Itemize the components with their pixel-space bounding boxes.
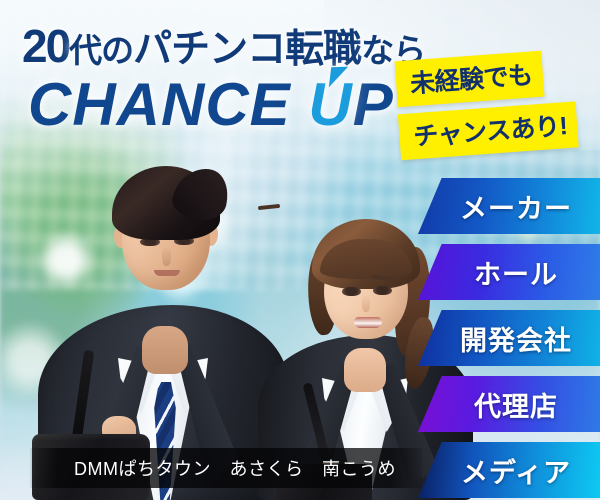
credit-text: DMMぱちタウン あさくら 南こうめ	[30, 455, 396, 481]
category-button-stack: メーカー ホール 開発会社 代理店 メディア	[418, 178, 600, 500]
category-button-hall[interactable]: ホール	[418, 244, 600, 300]
promo-badge: 未経験でも チャンスあり!	[396, 56, 596, 150]
category-button-agency[interactable]: 代理店	[418, 376, 600, 432]
advertisement-banner[interactable]: 20代のパチンコ転職なら CHANCE UP 未経験でも チャンスあり! メーカ…	[0, 0, 600, 500]
man-nose	[162, 246, 171, 266]
category-label-media: メディア	[447, 451, 571, 490]
category-label-agency: 代理店	[460, 385, 558, 424]
category-label-maker: メーカー	[446, 187, 572, 226]
category-button-media[interactable]: メディア	[418, 442, 600, 498]
headline-main: パチンコ転職	[133, 28, 361, 71]
woman-neck	[344, 348, 386, 392]
category-label-hall: ホール	[460, 253, 558, 292]
woman-eyebrow-left	[258, 204, 280, 210]
woman-eye-left	[342, 287, 361, 296]
woman-nose	[362, 295, 370, 312]
up-arrow-icon	[329, 67, 348, 88]
logo-up-group: U	[308, 70, 352, 139]
headline-number: 20	[22, 20, 69, 72]
chance-up-logo: CHANCE UP	[28, 70, 394, 139]
category-label-developer: 開発会社	[446, 319, 572, 358]
credit-bar: DMMぱちタウン あさくら 南こうめ	[30, 448, 422, 488]
category-button-developer[interactable]: 開発会社	[418, 310, 600, 366]
category-button-maker[interactable]: メーカー	[418, 178, 600, 234]
headline-prefix-small: 代の	[69, 32, 133, 69]
promo-badge-line-1: 未経験でも	[395, 51, 544, 108]
logo-letter-p: P	[353, 71, 394, 138]
man-mouth	[154, 270, 180, 276]
woman-eye-right	[373, 286, 392, 295]
man-neck	[142, 326, 188, 374]
headline: 20代のパチンコ転職なら	[22, 18, 425, 74]
logo-text-chance: CHANCE	[28, 71, 308, 138]
woman-mouth-smiling	[354, 317, 382, 328]
